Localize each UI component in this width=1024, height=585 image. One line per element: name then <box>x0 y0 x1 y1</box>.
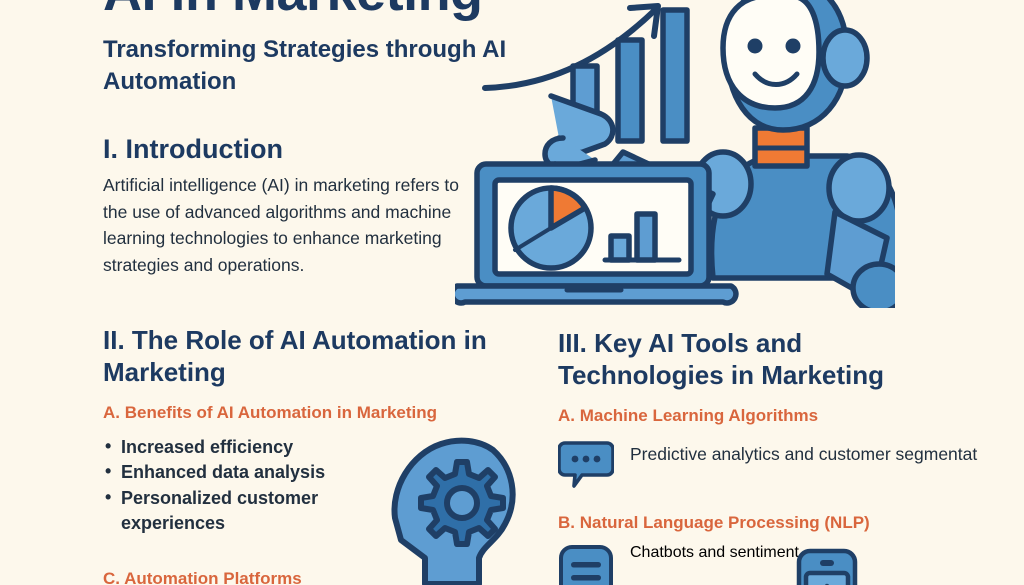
subheading-nlp: B. Natural Language Processing (NLP) <box>558 512 918 534</box>
subheading-benefits: A. Benefits of AI Automation in Marketin… <box>103 402 533 424</box>
section-heading-introduction: I. Introduction <box>103 133 503 166</box>
robot-illustration <box>455 0 895 308</box>
introduction-body-text: Artificial intelligence (AI) in marketin… <box>103 172 463 278</box>
machine-learning-description: Predictive analytics and customer segmen… <box>630 439 977 466</box>
document-lines-icon <box>558 544 614 585</box>
list-item: Personalized customer experiences <box>103 486 371 537</box>
subheading-automation-platforms: C. Automation Platforms <box>103 568 302 585</box>
chat-bubble-icon <box>558 439 614 494</box>
section-heading-tools: III. Key AI Tools and Technologies in Ma… <box>558 328 918 391</box>
list-item: Increased efficiency <box>103 435 371 461</box>
head-gear-icon <box>385 432 535 585</box>
section-key-ai-tools: III. Key AI Tools and Technologies in Ma… <box>558 328 918 585</box>
tool-item-machine-learning: Predictive analytics and customer segmen… <box>558 439 918 494</box>
section-heading-role: II. The Role of AI Automation in Marketi… <box>103 325 533 388</box>
subheading-machine-learning: A. Machine Learning Algorithms <box>558 405 918 427</box>
section-introduction: I. Introduction Artificial intelligence … <box>103 133 503 278</box>
list-item: Enhanced data analysis <box>103 460 371 486</box>
infographic-canvas: AI in Marketing Transforming Strategies … <box>0 0 1024 585</box>
nlp-description: Chatbots and sentiment <box>630 544 799 562</box>
mobile-phone-icon <box>795 548 865 585</box>
